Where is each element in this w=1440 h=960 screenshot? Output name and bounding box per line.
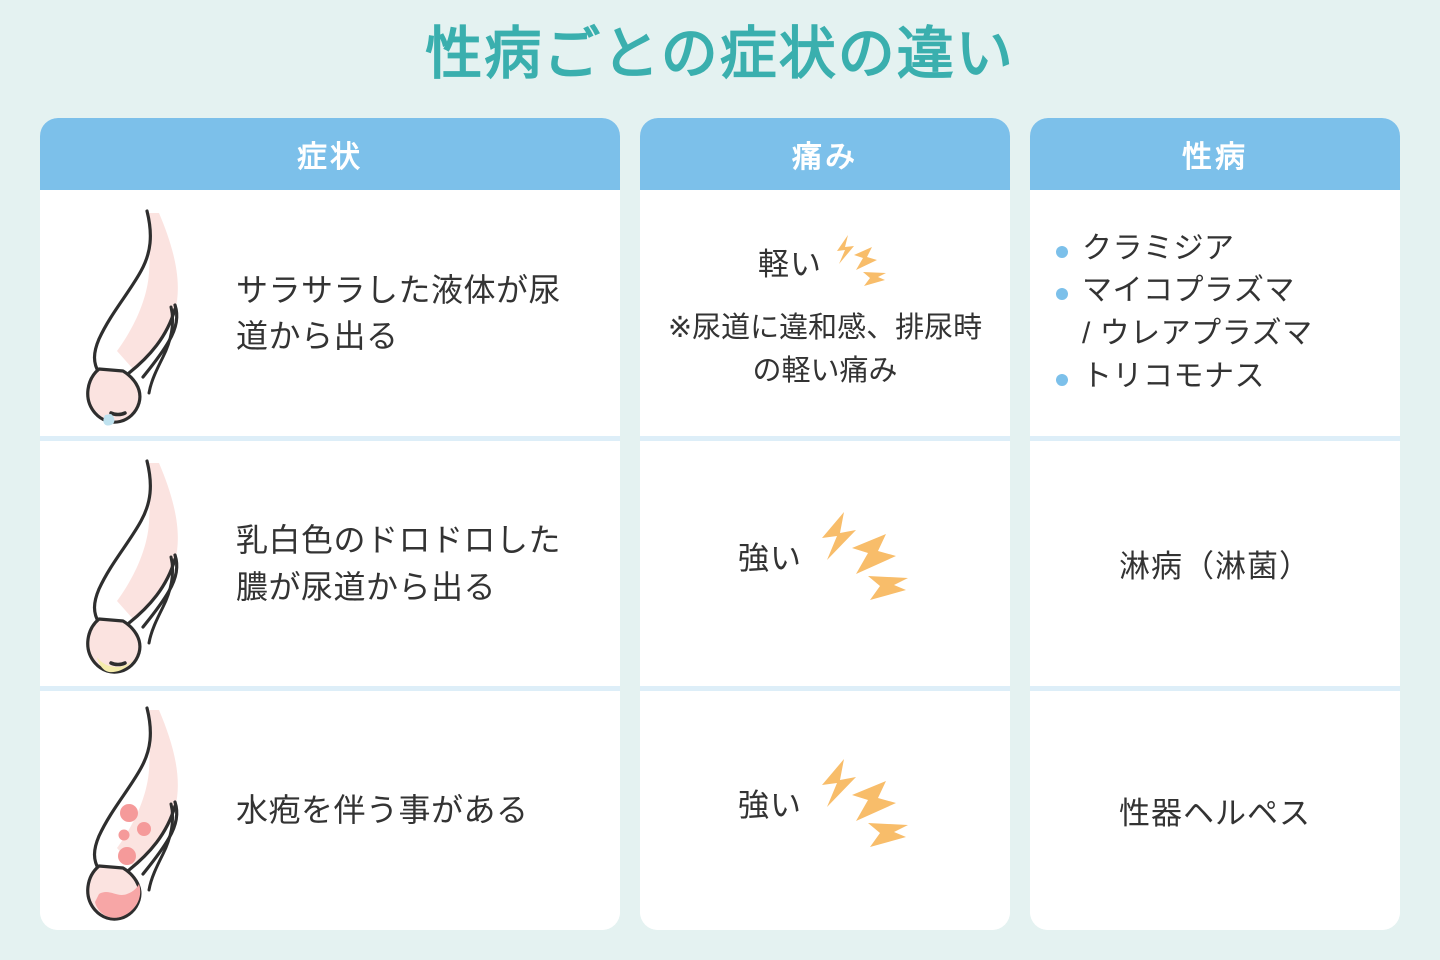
penis-blister-illustration — [66, 698, 226, 923]
column-header-symptom: 症状 — [40, 118, 620, 190]
symptom-text: サラサラした液体が尿道から出る — [236, 267, 566, 360]
table-row: サラサラした液体が尿道から出る — [40, 190, 620, 436]
table-row: クラミジア マイコプラズマ / ウレアプラズマ トリコモナス — [1030, 190, 1400, 436]
column-symptom: 症状 — [40, 118, 620, 930]
column-header-pain: 痛み — [640, 118, 1010, 190]
disease-name: 淋病（淋菌） — [1048, 541, 1382, 586]
table-row: 強い — [640, 686, 1010, 930]
disease-list: クラミジア マイコプラズマ / ウレアプラズマ トリコモナス — [1048, 228, 1382, 398]
column-body-symptom: サラサラした液体が尿道から出る — [40, 190, 620, 930]
list-item: トリコモナス — [1048, 356, 1382, 399]
table-row: 乳白色のドロドロした膿が尿道から出る — [40, 436, 620, 686]
penis-clear-discharge-illustration — [66, 201, 226, 426]
pain-note-text: ※尿道に違和感、排尿時の軽い痛み — [656, 307, 994, 394]
symptom-text: 水疱を伴う事がある — [236, 787, 529, 833]
column-header-disease: 性病 — [1030, 118, 1400, 190]
pain-level-group: 強い — [738, 755, 912, 851]
table-row: 水疱を伴う事がある — [40, 686, 620, 930]
list-item: / ウレアプラズマ — [1048, 313, 1382, 356]
disease-name: 性器ヘルペス — [1048, 788, 1382, 833]
table-row: 強い — [640, 436, 1010, 686]
page-title: 性病ごとの症状の違い — [0, 0, 1440, 83]
column-body-pain: 軽い ※尿道に違和感、排尿時の軽い痛み 強い — [640, 190, 1010, 930]
pain-level-text: 強い — [738, 533, 802, 578]
penis-pus-discharge-illustration — [66, 451, 226, 676]
pain-level-text: 強い — [738, 780, 802, 825]
table-row: 軽い ※尿道に違和感、排尿時の軽い痛み — [640, 190, 1010, 436]
column-body-disease: クラミジア マイコプラズマ / ウレアプラズマ トリコモナス 淋病（淋菌） 性器… — [1030, 190, 1400, 930]
symptom-text: 乳白色のドロドロした膿が尿道から出る — [236, 517, 566, 610]
table-row: 性器ヘルペス — [1030, 686, 1400, 930]
pain-level-group: 軽い — [758, 233, 892, 291]
table-row: 淋病（淋菌） — [1030, 436, 1400, 686]
infographic-page: 性病ごとの症状の違い 症状 — [0, 0, 1440, 960]
column-disease: 性病 クラミジア マイコプラズマ / ウレアプラズマ トリコモナス 淋病（淋菌）… — [1030, 118, 1400, 930]
column-pain: 痛み 軽い ※尿道に違和感、排尿時の軽い痛み — [640, 118, 1010, 930]
lightning-bolt-icon — [828, 233, 892, 291]
list-item: クラミジア — [1048, 228, 1382, 271]
pain-level-text: 軽い — [758, 239, 822, 284]
lightning-bolt-icon — [808, 755, 912, 851]
list-item: マイコプラズマ — [1048, 270, 1382, 313]
comparison-table: 症状 — [40, 118, 1400, 930]
pain-level-group: 強い — [738, 508, 912, 604]
lightning-bolt-icon — [808, 508, 912, 604]
